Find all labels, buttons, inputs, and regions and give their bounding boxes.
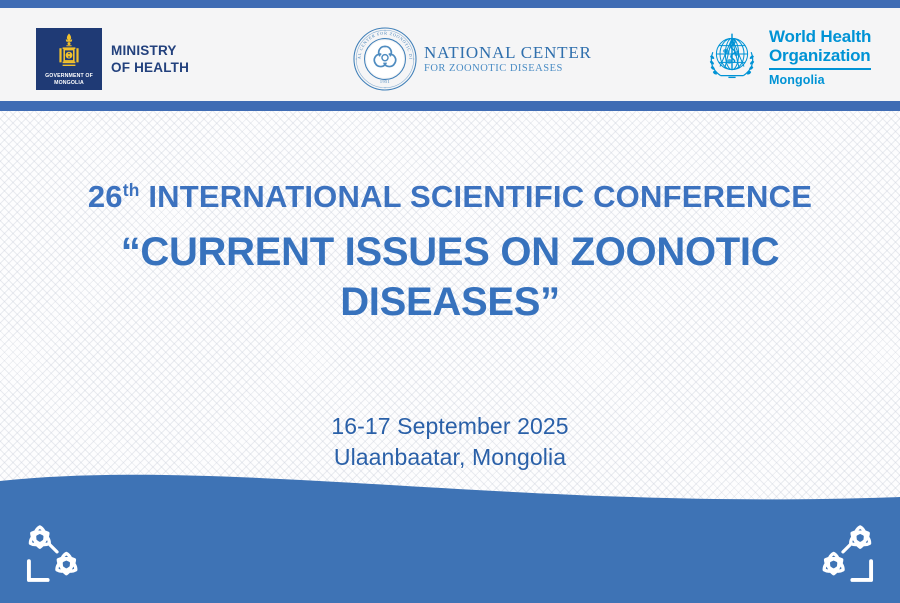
logo-national-center-zoonotic-diseases: NATIONAL CENTER FOR ZOONOTIC DISEASES 19… [352,26,592,92]
moh-emblem-caption: GOVERNMENT OF MONGOLIA [36,73,102,87]
soyombo-emblem-glyph [36,32,102,68]
who-name-line2: Organization [769,46,871,65]
moh-label-line2: OF HEALTH [111,59,189,76]
wave-divider-icon [0,463,900,603]
conference-label: INTERNATIONAL SCIENTIFIC CONFERENCE [140,179,813,214]
who-name: World Health Organization [769,27,871,65]
moh-emblem-line1: GOVERNMENT OF [36,73,102,80]
who-wordmark: World Health Organization Mongolia [769,27,871,87]
conference-title-slide: GOVERNMENT OF MONGOLIA MINISTRY OF HEALT… [0,0,900,603]
moh-label-line1: MINISTRY [111,42,189,59]
who-divider [769,68,871,70]
who-emblem-icon [702,27,762,87]
nczd-label-line2: FOR ZOONOTIC DISEASES [424,62,592,75]
top-accent-bar [0,0,900,8]
moh-emblem-line2: MONGOLIA [36,80,102,87]
logo-header: GOVERNMENT OF MONGOLIA MINISTRY OF HEALT… [0,8,900,101]
who-country-label: Mongolia [769,73,871,87]
svg-text:1951: 1951 [380,79,390,84]
moh-wordmark: MINISTRY OF HEALTH [111,42,189,76]
conference-ordinal: th [123,180,140,200]
soyombo-emblem-icon: GOVERNMENT OF MONGOLIA [36,28,102,90]
page-title: “CURRENT ISSUES ON ZOONOTIC DISEASES” [0,227,900,327]
conference-subtitle: 26th INTERNATIONAL SCIENTIFIC CONFERENCE [0,171,900,216]
logo-ministry-of-health: GOVERNMENT OF MONGOLIA MINISTRY OF HEALT… [36,28,189,90]
header-separator-bar [0,101,900,111]
event-dates: 16-17 September 2025 [0,411,900,442]
nczd-label-line1: NATIONAL CENTER [424,43,592,62]
mongolian-ulzii-knot-icon [18,519,96,591]
logo-who-mongolia: World Health Organization Mongolia [702,27,871,87]
conference-number: 26 [88,179,123,214]
biohazard-seal-icon: NATIONAL CENTER FOR ZOONOTIC DISEASES 19… [352,26,418,92]
nczd-wordmark: NATIONAL CENTER FOR ZOONOTIC DISEASES [424,43,592,75]
mongolian-ulzii-knot-icon [804,519,882,591]
title-block: 26th INTERNATIONAL SCIENTIFIC CONFERENCE… [0,171,900,327]
who-name-line1: World Health [769,27,871,46]
